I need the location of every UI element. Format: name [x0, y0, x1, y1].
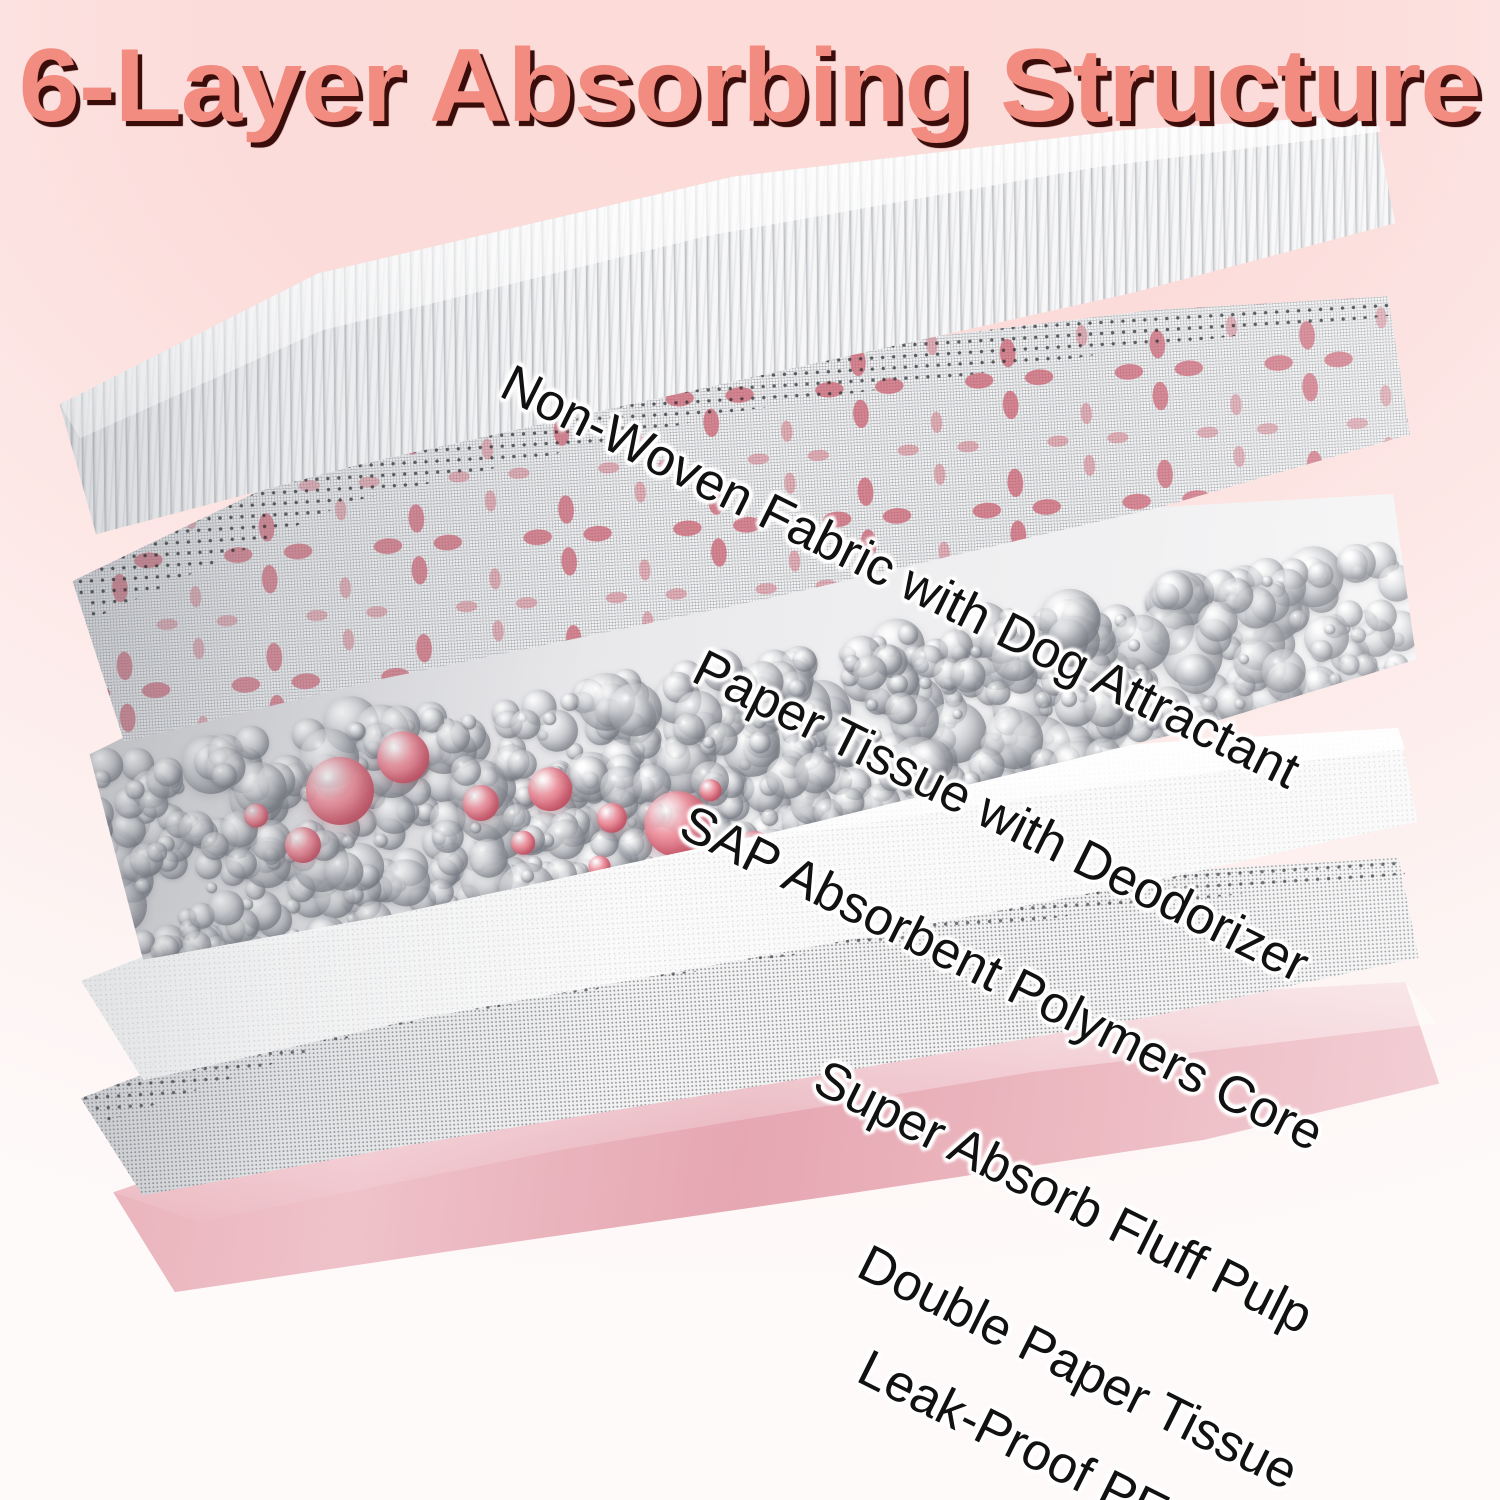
sap-gel-bead-clear [672, 858, 688, 874]
sap-gel-bead-clear [87, 932, 113, 958]
sap-gel-bead-clear [891, 816, 910, 835]
sap-gel-bead-clear [518, 901, 532, 915]
sap-gel-bead-clear [680, 848, 710, 878]
sap-gel-bead-clear [81, 852, 118, 889]
sap-gel-bead-pink [885, 907, 910, 932]
sap-gel-bead-clear [878, 814, 897, 833]
sap-gel-bead-clear [862, 834, 876, 848]
sap-gel-bead-clear [755, 852, 771, 868]
sap-gel-bead-pink [1226, 943, 1266, 983]
sap-gel-bead-clear [100, 937, 140, 977]
sap-gel-bead-clear [870, 833, 887, 850]
sap-gel-bead-pink [1176, 934, 1203, 961]
sap-gel-bead-clear [87, 887, 114, 914]
sap-gel-bead-clear [1157, 784, 1191, 818]
sap-gel-bead-clear [601, 866, 644, 909]
layer-1-non-woven-fabric [33, 106, 1458, 633]
sap-gel-bead-clear [811, 823, 837, 849]
sap-gel-bead-clear [793, 858, 804, 869]
sap-gel-bead-clear [741, 842, 777, 878]
sap-gel-bead-clear [214, 945, 236, 967]
sap-gel-bead-pink [1003, 889, 1033, 919]
sap-gel-bead-clear [417, 912, 439, 934]
sap-gel-bead-clear [633, 860, 675, 902]
sap-gel-bead-clear [1000, 799, 1041, 840]
sap-gel-bead-clear [1063, 791, 1088, 816]
sap-gel-bead-clear [339, 920, 368, 949]
sap-gel-bead-clear [910, 829, 926, 845]
sap-gel-bead-clear [1118, 801, 1136, 819]
sap-gel-bead-clear [658, 854, 717, 913]
sap-gel-bead-clear [1043, 808, 1072, 837]
sap-gel-bead-clear [82, 936, 133, 987]
sap-gel-bead-clear [938, 809, 977, 848]
sap-gel-bead-clear [570, 882, 584, 896]
sap-gel-bead-clear [944, 806, 970, 832]
sap-gel-bead-clear [677, 849, 708, 880]
sap-gel-bead-clear [845, 819, 888, 862]
sap-gel-bead-clear [654, 872, 672, 890]
sap-gel-bead-clear [737, 834, 778, 875]
sap-gel-bead-clear [1258, 778, 1280, 800]
sap-gel-bead-clear [676, 853, 716, 893]
sap-gel-bead-clear [626, 879, 649, 902]
sap-gel-bead-clear [454, 900, 487, 933]
sap-gel-bead-clear [1103, 791, 1138, 826]
sap-gel-bead-pink [1046, 909, 1092, 955]
layer-stack [0, 0, 1500, 1500]
sap-gel-bead-clear [95, 929, 122, 956]
sap-gel-bead-clear [656, 858, 674, 876]
sap-gel-bead-pink [787, 840, 844, 897]
sap-gel-bead-clear [930, 814, 941, 825]
sap-gel-bead-clear [825, 840, 851, 866]
sap-gel-bead-pink [1140, 882, 1163, 905]
sap-gel-bead-clear [1097, 792, 1134, 829]
sap-gel-bead-pink [1118, 922, 1152, 956]
sap-gel-bead-clear [840, 826, 854, 840]
sap-gel-bead-clear [606, 871, 620, 885]
sap-gel-bead-clear [838, 846, 860, 868]
sap-gel-bead-clear [198, 949, 213, 964]
sap-gel-bead-clear [942, 821, 982, 861]
sap-gel-bead-clear [91, 938, 113, 960]
sap-gel-bead-clear [761, 854, 794, 887]
sap-gel-bead-clear [321, 928, 345, 952]
sap-gel-bead-clear [887, 815, 916, 844]
sap-gel-bead-clear [967, 800, 1007, 840]
sap-gel-bead-clear [1013, 790, 1057, 834]
sap-gel-bead-pink [936, 882, 989, 935]
infographic-canvas: 6-Layer Absorbing Structure [0, 0, 1500, 1500]
sap-gel-bead-clear [896, 803, 936, 843]
sap-gel-bead-clear [666, 853, 683, 870]
sap-gel-bead-clear [1043, 793, 1056, 806]
sap-gel-bead-pink [1336, 955, 1368, 987]
sap-gel-bead-clear [962, 820, 985, 843]
sap-gel-bead-clear [575, 868, 617, 910]
sap-gel-bead-pink [1288, 939, 1313, 964]
sap-gel-bead-clear [590, 879, 628, 917]
sap-gel-bead-clear [528, 884, 552, 908]
sap-gel-bead-clear [97, 905, 117, 925]
sap-gel-bead-clear [925, 827, 957, 859]
sap-gel-bead-clear [772, 832, 802, 862]
sap-gel-bead-clear [535, 880, 571, 916]
sap-gel-bead-clear [89, 906, 130, 947]
sap-gel-bead-clear [552, 876, 586, 910]
sap-gel-bead-clear [491, 893, 502, 904]
sap-gel-bead-clear [850, 817, 862, 829]
sap-gel-bead-clear [1119, 799, 1144, 824]
sap-gel-bead-clear [926, 813, 971, 858]
sap-gel-bead-clear [1116, 788, 1135, 807]
sap-gel-bead-clear [965, 805, 994, 834]
sap-gel-bead-clear [389, 915, 406, 932]
sap-gel-bead-pink [920, 866, 952, 898]
sap-gel-bead-clear [803, 824, 827, 848]
sap-gel-bead-pink [857, 826, 891, 860]
sap-gel-bead-clear [400, 911, 431, 942]
sap-gel-bead-clear [722, 859, 746, 883]
sap-gel-bead-clear [1231, 784, 1246, 799]
sap-gel-bead-clear [888, 825, 927, 864]
sap-gel-bead-clear [588, 867, 626, 905]
sap-gel-bead-clear [805, 830, 868, 893]
sap-gel-bead-clear [119, 963, 143, 987]
sap-gel-bead-clear [276, 940, 292, 956]
sap-gel-bead-clear [105, 909, 120, 924]
sap-gel-bead-clear [1156, 781, 1199, 824]
